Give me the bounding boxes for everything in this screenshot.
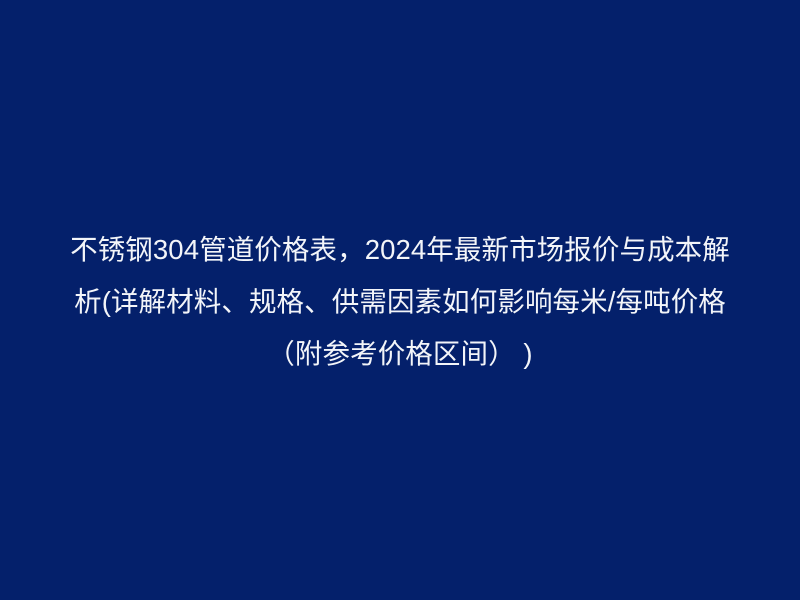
slide-canvas: 不锈钢304管道价格表，2024年最新市场报价与成本解析(详解材料、规格、供需因… bbox=[0, 0, 800, 600]
page-title: 不锈钢304管道价格表，2024年最新市场报价与成本解析(详解材料、规格、供需因… bbox=[59, 224, 741, 380]
title-block: 不锈钢304管道价格表，2024年最新市场报价与成本解析(详解材料、规格、供需因… bbox=[59, 224, 741, 380]
